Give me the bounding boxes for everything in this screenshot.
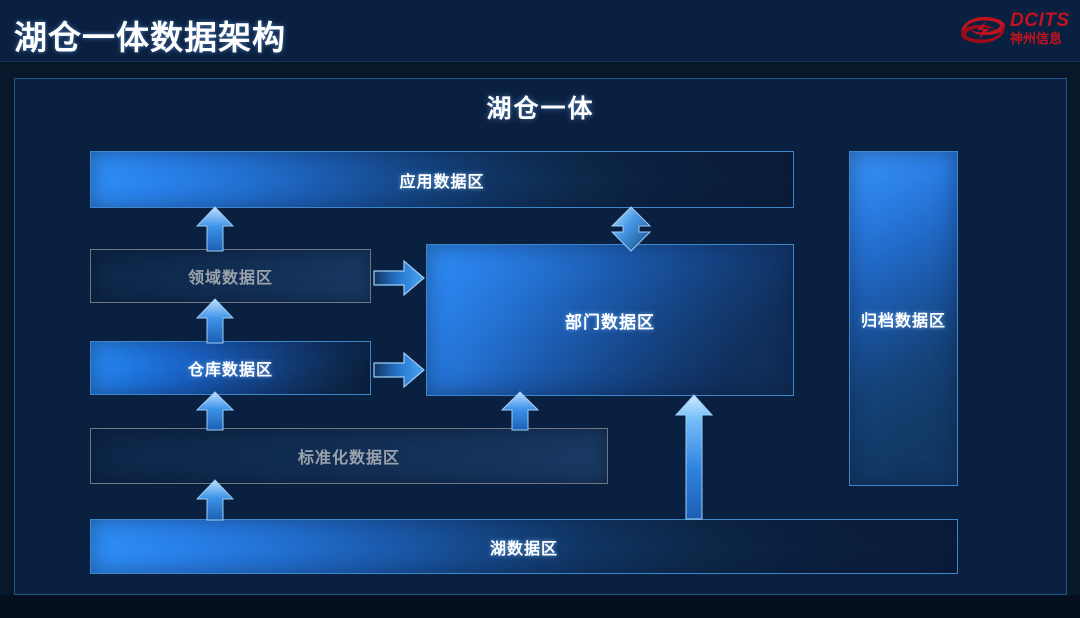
diagram-title: 湖仓一体	[15, 89, 1066, 125]
zone-standardization-label: 标准化数据区	[298, 444, 400, 468]
connector-lake-to-department	[674, 393, 714, 521]
connector-domain-to-application	[196, 206, 234, 252]
connector-warehouse-to-domain	[196, 298, 234, 344]
zone-domain[interactable]: 领域数据区	[90, 249, 371, 303]
connector-warehouse-to-department	[373, 351, 425, 389]
company-logo: DCITS 神州信息	[956, 6, 1074, 54]
zone-warehouse-label: 仓库数据区	[188, 356, 273, 380]
zone-warehouse[interactable]: 仓库数据区	[90, 341, 371, 395]
zone-standardization[interactable]: 标准化数据区	[90, 428, 608, 484]
connector-standardization-to-warehouse	[196, 391, 234, 431]
zone-archive[interactable]: 归档数据区	[849, 151, 958, 486]
zone-department-label: 部门数据区	[565, 308, 655, 333]
page-title: 湖仓一体数据架构	[14, 11, 286, 59]
connector-domain-to-department	[373, 259, 425, 297]
logo-brand-en: DCITS	[1010, 11, 1072, 31]
slide-bottom-strip	[0, 595, 1080, 618]
connector-standardization-to-department	[501, 391, 539, 431]
zone-lake[interactable]: 湖数据区	[90, 519, 958, 574]
zone-application[interactable]: 应用数据区	[90, 151, 794, 208]
slide-header: 湖仓一体数据架构 DCITS 神州信息	[0, 0, 1080, 62]
diagram-frame: 湖仓一体 应用数据区 领域数据区 仓库数据区 标准化数据区 湖数据区 部门数据区…	[14, 78, 1067, 595]
zone-archive-label: 归档数据区	[861, 307, 946, 331]
slide-canvas: 湖仓一体数据架构 DCITS 神州信息 湖仓一体 应用数据区 领域数据区	[0, 0, 1080, 618]
dcits-swirl-logo-icon	[958, 13, 1008, 47]
logo-wordmark: DCITS 神州信息	[1010, 11, 1072, 46]
zone-application-label: 应用数据区	[399, 168, 484, 192]
connector-department-to-application	[609, 206, 653, 252]
connector-lake-to-standardization	[196, 479, 234, 521]
logo-brand-cn: 神州信息	[1010, 31, 1072, 46]
zone-department[interactable]: 部门数据区	[426, 244, 794, 396]
zone-domain-label: 领域数据区	[188, 264, 273, 288]
zone-lake-label: 湖数据区	[490, 535, 558, 559]
